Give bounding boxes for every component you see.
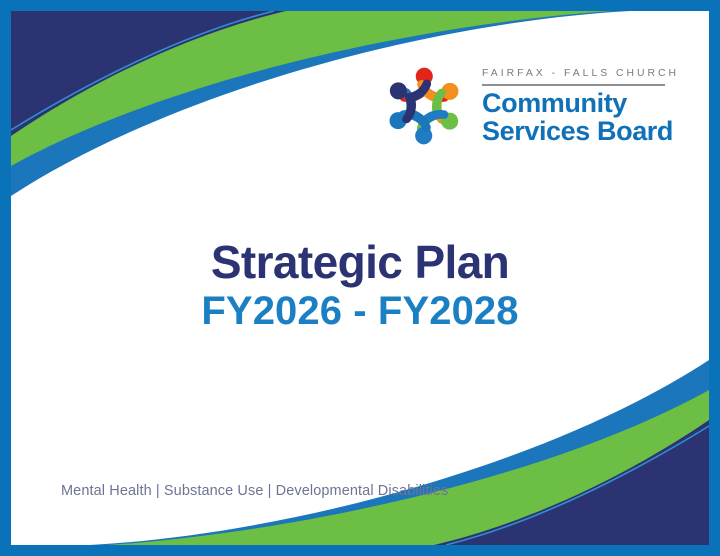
- logo-divider-rule: [482, 84, 665, 86]
- logo-name-line-2: Services Board: [482, 117, 679, 145]
- logo-wordmark: FAIRFAX - FALLS CHURCH Community Service…: [482, 67, 679, 145]
- title-block: Strategic Plan FY2026 - FY2028: [0, 238, 720, 334]
- logo-name-line-1: Community: [482, 89, 679, 117]
- logo-lockup: FAIRFAX - FALLS CHURCH Community Service…: [376, 57, 666, 155]
- footer-service-areas: Mental Health | Substance Use | Developm…: [61, 483, 448, 499]
- logo-eyebrow-locality: FAIRFAX - FALLS CHURCH: [482, 69, 679, 84]
- community-services-board-logo-mark: [376, 58, 472, 154]
- page-title: Strategic Plan: [0, 238, 720, 287]
- title-slide: FAIRFAX - FALLS CHURCH Community Service…: [0, 0, 720, 556]
- page-subtitle-fiscal-years: FY2026 - FY2028: [0, 289, 720, 334]
